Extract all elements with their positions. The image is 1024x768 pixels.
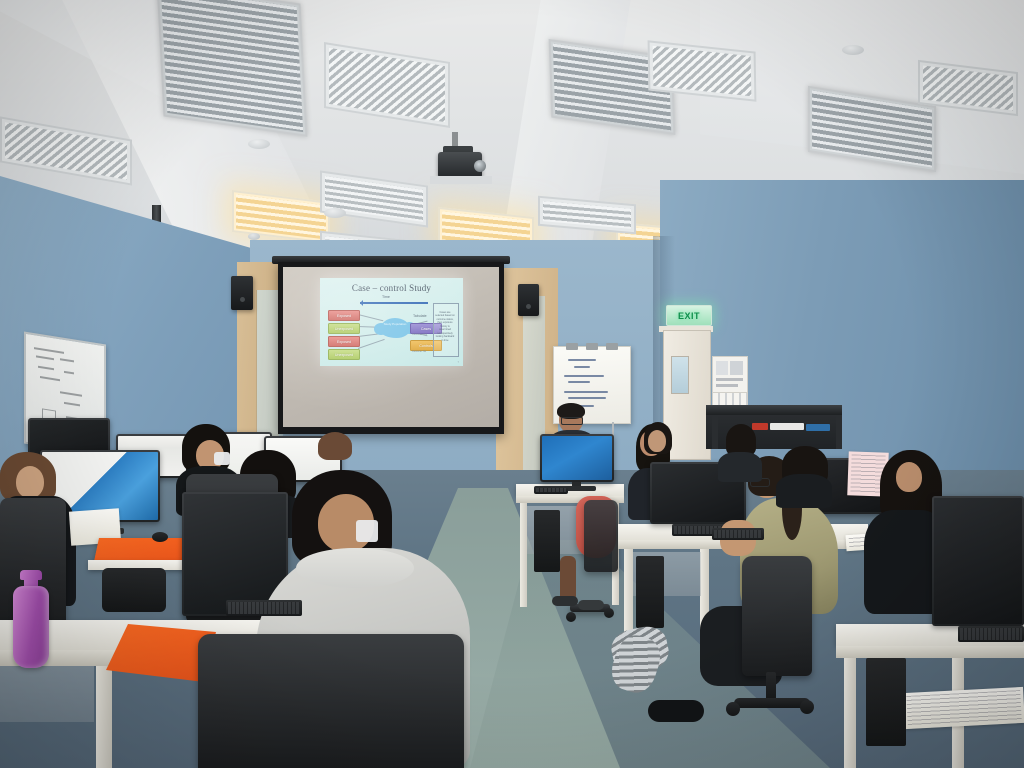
wall-speaker-right — [518, 284, 539, 316]
shelf-label-red — [752, 423, 768, 430]
shelf-leg — [836, 415, 842, 449]
projector-ceiling-plate — [430, 176, 492, 184]
hoodie-collar — [296, 548, 414, 588]
monitor-screen — [542, 436, 612, 480]
pc-tower — [534, 510, 560, 572]
chair-wheel — [604, 608, 614, 618]
exit-sign: EXIT — [666, 305, 712, 326]
smoke-detector — [248, 139, 270, 149]
chair-left-back — [102, 568, 166, 612]
shelf-label-white — [770, 423, 804, 430]
water-bottle[interactable] — [13, 586, 49, 668]
door-window — [671, 356, 689, 394]
screen-glare — [283, 267, 499, 427]
keyboard — [958, 626, 1024, 642]
shelf-leg — [712, 415, 718, 449]
monitor-right-front — [932, 496, 1024, 626]
wall-notices — [712, 356, 748, 394]
pc-tower — [866, 658, 906, 746]
head — [896, 462, 922, 492]
keyboard-olive-student — [712, 528, 764, 540]
mouse — [152, 532, 168, 542]
head — [648, 430, 666, 452]
sandal — [578, 600, 604, 610]
ceiling-light-panel — [157, 0, 308, 137]
torso — [776, 474, 832, 508]
face-mask — [214, 452, 230, 465]
chair-olive-student — [742, 556, 812, 676]
desk-leg — [520, 503, 527, 607]
face-mask — [356, 520, 378, 542]
pc-tower — [636, 556, 664, 628]
classroom-photo: EXIT Case – control Study Time Exposed U… — [0, 0, 1024, 768]
document-paper — [903, 687, 1024, 729]
bottle-cap — [20, 570, 42, 580]
wall-shelf — [706, 405, 842, 415]
head — [16, 466, 44, 498]
torso — [718, 452, 762, 482]
monitor-instructor — [540, 434, 614, 482]
wall-speaker-left — [231, 276, 253, 310]
desk-leg — [96, 666, 112, 768]
keyboard-foreground — [226, 600, 302, 616]
chair-base — [734, 698, 810, 708]
keyboard — [534, 486, 568, 494]
shoe — [648, 700, 704, 722]
ceiling-sprinkler — [248, 233, 260, 240]
smoke-detector — [324, 208, 346, 218]
desk-edge — [836, 646, 1024, 658]
hair — [318, 432, 352, 460]
desk-leg — [844, 658, 856, 768]
chair-wheel — [566, 612, 576, 622]
desk-modesty-panel — [0, 666, 94, 722]
sandal — [552, 596, 578, 606]
exit-sign-label: EXIT — [678, 311, 700, 321]
glasses-icon — [561, 417, 583, 425]
shelf-label-blue — [806, 424, 830, 431]
chair-wheel — [800, 700, 814, 714]
chair-front-hoodie — [198, 634, 464, 768]
chair-instructor — [584, 500, 618, 572]
smoke-detector — [842, 45, 864, 55]
monitor-screen — [934, 498, 1022, 624]
projector-lens — [474, 160, 486, 172]
chair-wheel — [726, 702, 740, 716]
